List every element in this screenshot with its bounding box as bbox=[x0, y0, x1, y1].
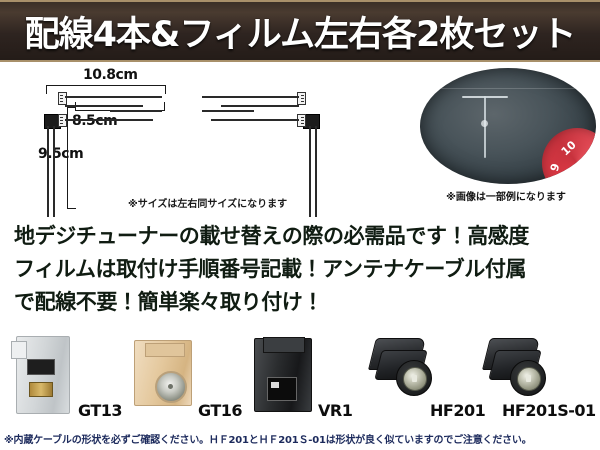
film-trace-vert-b bbox=[309, 126, 311, 217]
gt16-coax-ring bbox=[155, 371, 187, 403]
hf201s01-coax-barrel bbox=[510, 360, 546, 396]
connector-label-gt16: GT16 bbox=[198, 401, 242, 420]
connector-item-vr1: VR1 bbox=[248, 326, 360, 424]
connector-lineup: GT13 GT16 VR1 HF201 bbox=[0, 326, 600, 424]
hf201s01-coax-core bbox=[517, 367, 541, 391]
connector-item-gt16: GT16 bbox=[128, 326, 240, 424]
gt13-latch-tab bbox=[11, 341, 27, 359]
film-trace-mid2 bbox=[202, 110, 254, 112]
product-banner: 配線4本&フィルム左右各2枚セット 10.8cm 8.5cm 9.5cm bbox=[0, 0, 600, 450]
body-copy-line-2: フィルムは取付け手順番号記載！アンテナケーブル付属 bbox=[14, 253, 586, 286]
glass-seam bbox=[420, 88, 596, 89]
film-trace-mid bbox=[65, 105, 143, 107]
antenna-feed-point bbox=[481, 120, 488, 127]
film-trace-top bbox=[65, 96, 162, 98]
connector-label-vr1: VR1 bbox=[318, 401, 352, 420]
film-trace-top bbox=[202, 96, 299, 98]
connector-label-hf201: HF201 bbox=[430, 401, 485, 420]
hf201-coax-barrel bbox=[396, 360, 432, 396]
film-trace-vert-b bbox=[53, 126, 55, 217]
connector-label-hf201s01: HF201S-01 bbox=[502, 401, 596, 420]
film-connector-upper bbox=[58, 92, 67, 105]
banner-header: 配線4本&フィルム左右各2枚セット bbox=[0, 0, 600, 62]
hf201-coax-core bbox=[403, 367, 427, 391]
connector-item-gt13: GT13 bbox=[8, 326, 120, 424]
film-trace-mid bbox=[221, 105, 299, 107]
footer-disclaimer: ※内蔵ケーブルの形状を必ずご確認ください。ＨＦ201とＨＦ201Ｓ-01は形状が… bbox=[0, 426, 600, 450]
gauge-mark-9: 9 bbox=[548, 162, 563, 173]
vr1-top-shell bbox=[263, 337, 305, 353]
vr1-connector-image bbox=[254, 338, 312, 412]
header-title: 配線4本&フィルム左右各2枚セット bbox=[25, 6, 576, 57]
photo-note: ※画像は一部例になります bbox=[412, 188, 600, 203]
dimension-label-width-top: 10.8cm bbox=[83, 67, 137, 83]
size-note: ※サイズは左右同サイズになります bbox=[128, 195, 287, 210]
film-connector-upper bbox=[297, 92, 306, 105]
red-gauge-sticker: 9 10 bbox=[533, 119, 596, 184]
body-copy-line-3: で配線不要！簡単楽々取り付け！ bbox=[14, 286, 586, 319]
connector-item-hf201s01: HF201S-01 bbox=[482, 326, 600, 424]
film-trace-mid2 bbox=[110, 110, 162, 112]
film-trace-bottom bbox=[65, 119, 153, 121]
film-diagram-panel: 10.8cm 8.5cm 9.5cm bbox=[0, 62, 410, 214]
windshield-photo: 9 10 bbox=[420, 68, 596, 184]
hf201-connector-image bbox=[372, 334, 434, 406]
connector-label-gt13: GT13 bbox=[78, 401, 122, 420]
film-trace-vert-a bbox=[47, 126, 49, 217]
film-trace-bottom bbox=[211, 119, 299, 121]
installation-photo-panel: 9 10 ※画像は一部例になります bbox=[412, 62, 600, 214]
gt16-connector-image bbox=[134, 340, 192, 406]
hf201s01-connector-image bbox=[486, 334, 548, 406]
gt16-top-fin bbox=[145, 343, 185, 357]
footer-text: ※内蔵ケーブルの形状を必ずご確認ください。ＨＦ201とＨＦ201Ｓ-01は形状が… bbox=[0, 431, 532, 446]
installed-antenna-vertical bbox=[484, 96, 486, 158]
body-copy: 地デジチューナーの載せ替えの際の必需品です！高感度 フィルムは取付け手順番号記載… bbox=[0, 216, 600, 324]
film-trace-vert-a bbox=[315, 126, 317, 217]
body-copy-line-1: 地デジチューナーの載せ替えの際の必需品です！高感度 bbox=[14, 220, 586, 253]
connector-item-hf201: HF201 bbox=[368, 326, 480, 424]
gt13-connector-image bbox=[16, 336, 70, 414]
gauge-mark-10: 10 bbox=[559, 138, 579, 158]
